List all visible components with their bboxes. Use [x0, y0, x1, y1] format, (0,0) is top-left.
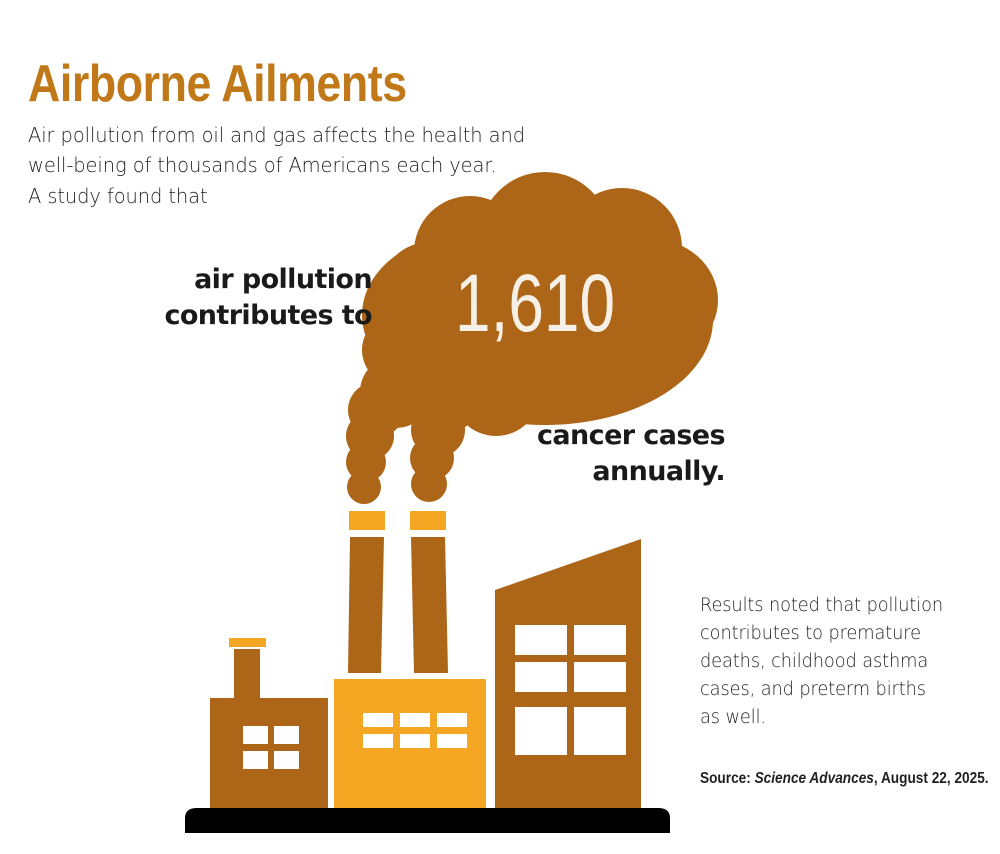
results-line-3: deaths, childhood asthma — [700, 648, 978, 676]
center-building — [334, 679, 486, 808]
statistic-value: 1,610 — [455, 263, 615, 345]
results-line-1: Results noted that pollution — [700, 592, 978, 620]
callout-right-line-1: cancer cases — [450, 418, 725, 454]
results-paragraph: Results noted that pollution contributes… — [700, 592, 978, 733]
callout-left: air pollution contributes to — [100, 262, 372, 334]
left-chimney-cap — [229, 638, 266, 647]
smokestack-left — [348, 537, 384, 673]
callout-left-line-2: contributes to — [100, 298, 372, 334]
infographic-canvas: Airborne Ailments Air pollution from oil… — [0, 0, 1000, 854]
left-building — [210, 638, 328, 808]
left-chimney — [234, 649, 260, 698]
smokestack-right — [411, 537, 448, 673]
results-line-4: cases, and preterm births — [700, 676, 978, 704]
callout-right: cancer cases annually. — [450, 418, 725, 490]
page-title: Airborne Ailments — [28, 57, 407, 112]
source-prefix: Source: — [700, 770, 755, 787]
callout-right-line-2: annually. — [450, 454, 725, 490]
source-suffix: , August 22, 2025. — [874, 770, 989, 787]
source-publication: Science Advances — [755, 770, 874, 787]
intro-line-3: A study found that — [28, 181, 560, 211]
right-building — [495, 539, 641, 808]
intro-line-1: Air pollution from oil and gas affects t… — [28, 120, 560, 150]
callout-left-line-1: air pollution — [100, 262, 372, 298]
smokestack-left-cap — [349, 511, 385, 530]
results-line-5: as well. — [700, 704, 978, 732]
intro-paragraph: Air pollution from oil and gas affects t… — [28, 120, 560, 211]
smokestack-right-cap — [410, 511, 446, 530]
smokestacks — [348, 511, 448, 673]
results-line-2: contributes to premature — [700, 620, 978, 648]
ground-bar — [185, 808, 670, 833]
intro-line-2: well-being of thousands of Americans eac… — [28, 150, 560, 180]
source-citation: Source: Science Advances, August 22, 202… — [700, 770, 989, 788]
